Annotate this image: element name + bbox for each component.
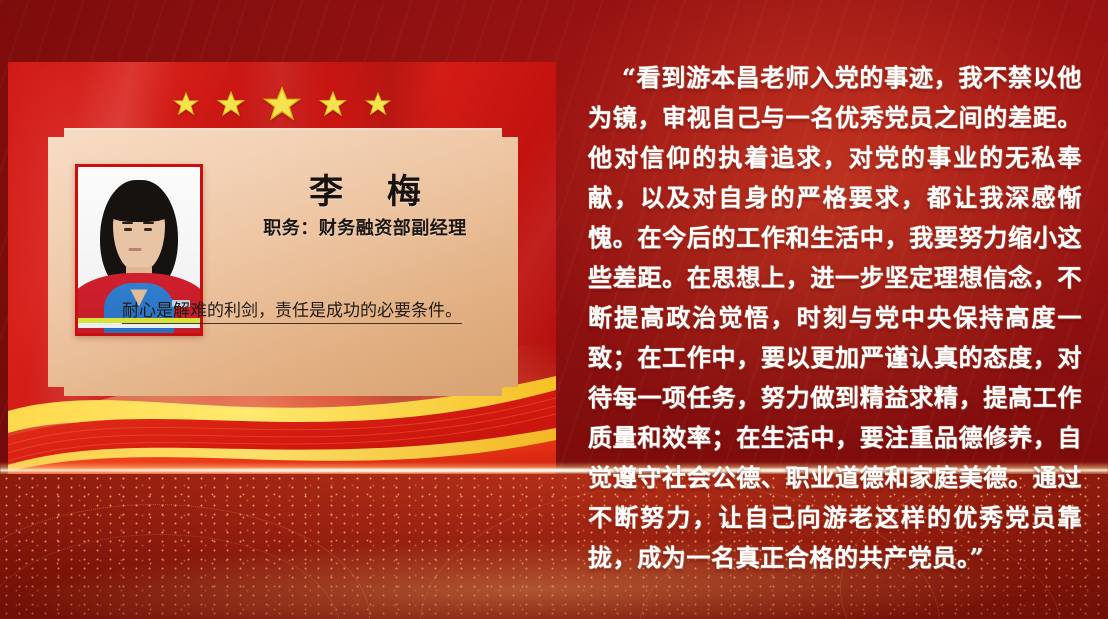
- profile-card: 李 梅 职务：财务融资部副经理 耐心是解难的利剑，责任是成功的必要条件。: [48, 128, 518, 396]
- employee-role: 职务：财务融资部副经理: [234, 214, 496, 240]
- star-icon: [319, 90, 347, 118]
- star-icon: [365, 91, 391, 117]
- employee-motto: 耐心是解难的利剑，责任是成功的必要条件。: [88, 294, 492, 329]
- star-rating-row: [8, 85, 556, 123]
- employee-name: 李 梅: [234, 164, 496, 213]
- star-icon: [263, 85, 301, 123]
- star-icon: [217, 90, 245, 118]
- slide-canvas: 李 梅 职务：财务融资部副经理 耐心是解难的利剑，责任是成功的必要条件。 “看到…: [0, 0, 1108, 619]
- testimonial-quote: “看到游本昌老师入党的事迹，我不禁以他为镜，审视自己与一名优秀党员之间的差距。他…: [588, 58, 1082, 578]
- star-icon: [173, 91, 199, 117]
